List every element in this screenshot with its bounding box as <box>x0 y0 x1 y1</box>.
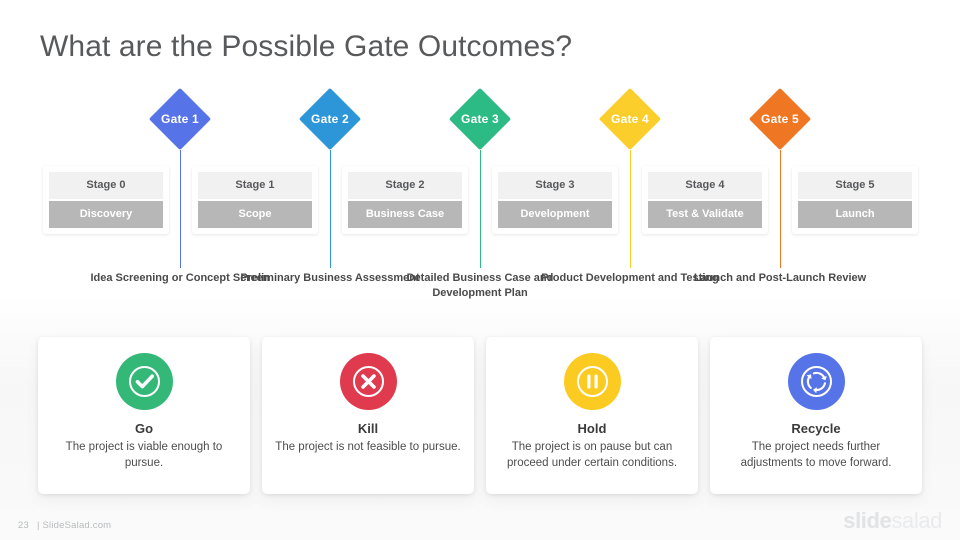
outcome-description: The project is on pause but can proceed … <box>486 439 698 471</box>
outcome-description: The project needs further adjustments to… <box>710 439 922 471</box>
footer-separator: | <box>37 520 40 531</box>
slidesalad-logo: slidesalad <box>843 508 942 534</box>
gate-connector-line <box>180 150 181 268</box>
diamond-icon: Gate 2 <box>299 88 361 150</box>
gate-label: Gate 2 <box>299 88 361 150</box>
outcome-card-recycle[interactable]: RecycleThe project needs further adjustm… <box>710 337 922 494</box>
outcome-description: The project is viable enough to pursue. <box>38 439 250 471</box>
recycle-circle-icon <box>788 353 845 410</box>
gate-caption: Launch and Post-Launch Review <box>685 271 875 286</box>
check-circle-icon <box>116 353 173 410</box>
stage-name-label: Development <box>498 201 612 228</box>
outcome-card-hold[interactable]: HoldThe project is on pause but can proc… <box>486 337 698 494</box>
outcome-title: Kill <box>262 421 474 436</box>
footer-site: SlideSalad.com <box>42 520 111 531</box>
stage-name-label: Scope <box>198 201 312 228</box>
stage-name-label: Test & Validate <box>648 201 762 228</box>
stage-name-label: Discovery <box>49 201 163 228</box>
stage-box-3[interactable]: Stage 3Development <box>492 166 618 234</box>
page-number: 23 <box>18 520 29 531</box>
diamond-icon: Gate 3 <box>449 88 511 150</box>
stage-name-label: Launch <box>798 201 912 228</box>
footer: 23| SlideSalad.com <box>18 520 111 531</box>
gate-connector-line <box>480 150 481 268</box>
gate-marker-2[interactable]: Gate 2 <box>245 88 415 150</box>
diamond-icon: Gate 1 <box>149 88 211 150</box>
stage-number-label: Stage 2 <box>348 172 462 199</box>
logo-part-salad: salad <box>891 508 942 533</box>
gate-connector-line <box>780 150 781 268</box>
gate-label: Gate 5 <box>749 88 811 150</box>
stage-box-2[interactable]: Stage 2Business Case <box>342 166 468 234</box>
outcome-card-go[interactable]: GoThe project is viable enough to pursue… <box>38 337 250 494</box>
gate-connector-line <box>630 150 631 268</box>
gate-marker-1[interactable]: Gate 1 <box>95 88 265 150</box>
gate-marker-4[interactable]: Gate 4 <box>545 88 715 150</box>
stage-number-label: Stage 5 <box>798 172 912 199</box>
gate-label: Gate 4 <box>599 88 661 150</box>
outcome-title: Go <box>38 421 250 436</box>
gate-marker-5[interactable]: Gate 5 <box>695 88 865 150</box>
stage-number-label: Stage 0 <box>49 172 163 199</box>
gate-label: Gate 1 <box>149 88 211 150</box>
stage-box-1[interactable]: Stage 1Scope <box>192 166 318 234</box>
outcome-card-kill[interactable]: KillThe project is not feasible to pursu… <box>262 337 474 494</box>
pause-circle-icon <box>564 353 621 410</box>
outcome-description: The project is not feasible to pursue. <box>262 439 474 455</box>
stage-number-label: Stage 3 <box>498 172 612 199</box>
diamond-icon: Gate 5 <box>749 88 811 150</box>
logo-part-slide: slide <box>843 508 891 533</box>
outcome-title: Recycle <box>710 421 922 436</box>
outcome-title: Hold <box>486 421 698 436</box>
stage-name-label: Business Case <box>348 201 462 228</box>
gate-connector-line <box>330 150 331 268</box>
stage-number-label: Stage 1 <box>198 172 312 199</box>
slide-canvas: What are the Possible Gate Outcomes? Gat… <box>0 0 960 540</box>
x-circle-icon <box>340 353 397 410</box>
diamond-icon: Gate 4 <box>599 88 661 150</box>
stage-box-5[interactable]: Stage 5Launch <box>792 166 918 234</box>
stage-box-0[interactable]: Stage 0Discovery <box>43 166 169 234</box>
stage-box-4[interactable]: Stage 4Test & Validate <box>642 166 768 234</box>
gate-marker-3[interactable]: Gate 3 <box>395 88 565 150</box>
page-title: What are the Possible Gate Outcomes? <box>40 30 572 64</box>
stage-number-label: Stage 4 <box>648 172 762 199</box>
gate-label: Gate 3 <box>449 88 511 150</box>
